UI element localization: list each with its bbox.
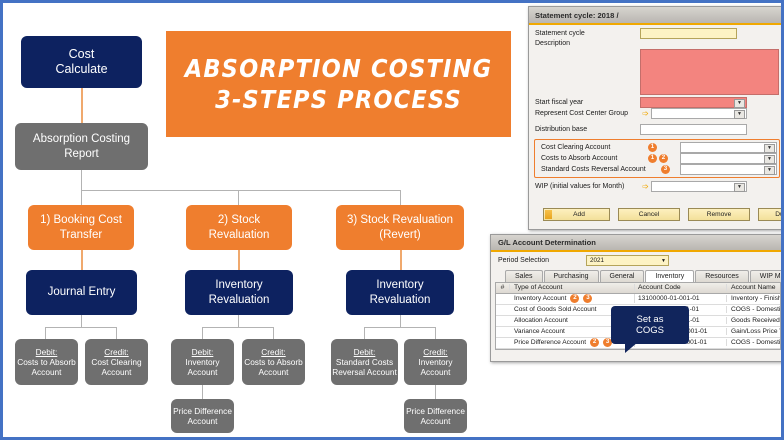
label-represent-cost-center-group: Represent Cost Center Group bbox=[535, 110, 640, 117]
node-step2-stock-revaluation[interactable]: 2) Stock Revaluation bbox=[186, 205, 292, 250]
row-type-label: Allocation Account bbox=[514, 317, 568, 324]
connector-doc2-trunk bbox=[238, 315, 239, 327]
leaf-debit-inventory-2[interactable]: Debit: Inventory Account bbox=[171, 339, 234, 385]
connector-doc3-trunk bbox=[400, 315, 401, 327]
node-inv-reval3-line2: Revaluation bbox=[370, 293, 431, 307]
node-step3-line2: (Revert) bbox=[379, 228, 421, 242]
leaf-debit-label-1: Debit: bbox=[36, 347, 58, 357]
field-start-fiscal-year[interactable]: Start fiscal year ▼ bbox=[529, 97, 784, 108]
node-inventory-revaluation-3[interactable]: Inventory Revaluation bbox=[346, 270, 454, 315]
connector-doc3-right bbox=[435, 327, 436, 339]
connector-report-trunk bbox=[81, 170, 82, 190]
tab-purchasing[interactable]: Purchasing bbox=[544, 270, 599, 282]
select-represent-cost-center-group[interactable]: ▼ bbox=[651, 108, 747, 119]
field-standard-costs-reversal-account[interactable]: Standard Costs Reversal Account 3 ▼ bbox=[535, 164, 779, 175]
leaf1-debit-line2: Account bbox=[32, 367, 62, 377]
row-type-label: Cost of Goods Sold Account bbox=[514, 306, 596, 313]
row-account-name: Gain/Loss Price Va bbox=[727, 328, 780, 335]
node-journal-entry-label: Journal Entry bbox=[48, 285, 116, 299]
row-code-value: 13100000-01-001-01 bbox=[638, 295, 700, 302]
chevron-down-icon: ▼ bbox=[734, 110, 745, 119]
node-step1-line1: 1) Booking Cost bbox=[40, 213, 122, 227]
chevron-down-icon: ▼ bbox=[764, 166, 775, 175]
connector-doc3-left bbox=[364, 327, 365, 339]
row-type-label: Price Difference Account bbox=[514, 339, 586, 346]
input-statement-cycle[interactable] bbox=[640, 28, 737, 39]
connector-doc1-bus bbox=[45, 327, 117, 328]
leaf-debit-label-2: Debit: bbox=[192, 347, 214, 357]
leaf-credit-label-1: Credit: bbox=[104, 347, 128, 357]
label-statement-cycle: Statement cycle bbox=[535, 30, 640, 37]
node-inv-reval3-line1: Inventory bbox=[376, 278, 423, 292]
leaf-credit-costs-to-absorb-2[interactable]: Credit: Costs to Absorb Account bbox=[242, 339, 305, 385]
connector-doc3-bus bbox=[364, 327, 436, 328]
field-represent-cost-center-group[interactable]: Represent Cost Center Group ➩ ▼ bbox=[529, 108, 784, 119]
node-absorption-costing-report[interactable]: Absorption Costing Report bbox=[15, 123, 148, 170]
leaf-debit-standard-costs-reversal[interactable]: Debit: Standard Costs Reversal Account bbox=[331, 339, 398, 385]
node-step1-booking-cost-transfer[interactable]: 1) Booking Cost Transfer bbox=[28, 205, 134, 250]
connector-bus-to-step3 bbox=[400, 190, 401, 205]
connector-doc2-right bbox=[273, 327, 274, 339]
distribution-accounts-group: Cost Clearing Account 1 ▼ Costs to Absor… bbox=[534, 139, 780, 178]
label-standard-costs-reversal-account: Standard Costs Reversal Account bbox=[541, 166, 659, 173]
callout-line1: Set as bbox=[636, 314, 664, 325]
badge-number: 1 bbox=[648, 143, 657, 152]
badge-number: 3 bbox=[583, 294, 592, 303]
leaf3-debit-line1: Standard Costs bbox=[336, 357, 393, 367]
add-button[interactable]: Add bbox=[543, 208, 610, 221]
node-step3-line1: 3) Stock Revaluation bbox=[347, 213, 453, 227]
connector-step2-to-doc bbox=[238, 250, 240, 270]
connector-doc1-left bbox=[45, 327, 46, 339]
select-cost-clearing-account[interactable]: ▼ bbox=[680, 142, 777, 153]
badge-number: 3 bbox=[661, 165, 670, 174]
connector-leaf2-to-pricediff bbox=[202, 385, 203, 399]
field-statement-cycle[interactable]: Statement cycle bbox=[529, 28, 784, 39]
connector-steps-bus bbox=[81, 190, 401, 191]
input-distribution-base[interactable] bbox=[640, 124, 747, 135]
leaf3-credit-line2: Account bbox=[421, 367, 451, 377]
leaf2-credit-line2: Account bbox=[259, 367, 289, 377]
callout-line2: COGS bbox=[636, 325, 664, 336]
node-step3-stock-revaluation-revert[interactable]: 3) Stock Revaluation (Revert) bbox=[336, 205, 464, 250]
slide-canvas: Cost Calculate Absorption Costing Report… bbox=[0, 0, 784, 440]
tab-inventory[interactable]: Inventory bbox=[645, 270, 694, 282]
leaf2-credit-line1: Costs to Absorb bbox=[244, 357, 303, 367]
callout-set-as-cogs: Set as COGS bbox=[611, 306, 689, 344]
leaf-debit-costs-to-absorb[interactable]: Debit: Costs to Absorb Account bbox=[15, 339, 78, 385]
period-value: 2021 bbox=[590, 257, 604, 264]
field-wip[interactable]: WIP (initial values for Month) ➩ ▼ bbox=[529, 181, 784, 192]
select-wip[interactable]: ▼ bbox=[651, 181, 747, 192]
row-account-name: COGS - Domestic bbox=[727, 306, 780, 313]
label-distribution-base: Distribution base bbox=[535, 126, 640, 133]
label-description: Description bbox=[535, 40, 640, 47]
badge-number: 2 bbox=[590, 338, 599, 347]
table-row[interactable]: Inventory Account 2 3 13100000-01-001-01… bbox=[496, 294, 780, 305]
table-header-row: # Type of Account Account Code Account N… bbox=[496, 283, 780, 294]
win1-title: Statement cycle: 2018 / bbox=[535, 11, 619, 20]
row-account-name: Inventory - Finish bbox=[727, 295, 780, 302]
row-type-label: Inventory Account bbox=[514, 295, 566, 302]
connector-step3-to-doc bbox=[400, 250, 402, 270]
leaf-credit-cost-clearing[interactable]: Credit: Cost Clearing Account bbox=[85, 339, 148, 385]
chevron-down-icon: ▼ bbox=[661, 256, 666, 265]
row-account-code: 13100000-01-001-01 bbox=[635, 295, 727, 302]
node-cost-calculate-line1: Cost bbox=[69, 47, 95, 62]
leaf3-extra-line2: Account bbox=[421, 416, 451, 426]
tab-sales[interactable]: Sales bbox=[505, 270, 543, 282]
field-cost-clearing-account[interactable]: Cost Clearing Account 1 ▼ bbox=[535, 142, 779, 153]
label-costs-to-absorb-account: Costs to Absorb Account bbox=[541, 155, 646, 162]
leaf1-credit-line1: Cost Clearing bbox=[91, 357, 141, 367]
leaf3-debit-line2: Reversal Account bbox=[332, 367, 397, 377]
connector-doc1-right bbox=[116, 327, 117, 339]
leaf2-debit-line2: Account bbox=[188, 367, 218, 377]
leaf1-debit-line1: Costs to Absorb bbox=[17, 357, 76, 367]
badge-number: 2 bbox=[659, 154, 668, 163]
badges-standard-costs-reversal: 3 bbox=[659, 165, 680, 174]
leaf3-credit-line1: Inventory bbox=[418, 357, 452, 367]
leaf-price-difference-2[interactable]: Price Difference Account bbox=[171, 399, 234, 433]
connector-doc1-trunk bbox=[81, 315, 82, 327]
tab-general[interactable]: General bbox=[600, 270, 645, 282]
node-inv-reval2-line1: Inventory bbox=[215, 278, 262, 292]
leaf2-debit-line1: Inventory bbox=[185, 357, 219, 367]
select-standard-costs-reversal-account[interactable]: ▼ bbox=[680, 164, 777, 175]
chevron-down-icon: ▼ bbox=[734, 99, 745, 108]
node-step2-line2: Revaluation bbox=[209, 228, 270, 242]
node-cost-calculate-line2: Calculate bbox=[55, 62, 107, 77]
label-cost-clearing-account: Cost Clearing Account bbox=[541, 144, 646, 151]
connector-bus-to-step1 bbox=[81, 190, 82, 205]
select-start-fiscal-year[interactable]: ▼ bbox=[640, 97, 747, 108]
win1-button-row: Add Cancel Remove Duplicate bbox=[529, 208, 784, 221]
statement-cycle-window[interactable]: Statement cycle: 2018 / Statement cycle … bbox=[528, 6, 784, 230]
field-distribution-base: Distribution base bbox=[529, 124, 784, 135]
field-description: Description bbox=[529, 39, 784, 48]
row-account-name: Goods Received N bbox=[727, 317, 780, 324]
cancel-button[interactable]: Cancel bbox=[618, 208, 680, 221]
link-arrow-icon[interactable]: ➩ bbox=[640, 110, 651, 118]
chevron-down-icon: ▼ bbox=[764, 144, 775, 153]
title-banner: Absorption Costing 3-Steps Process bbox=[166, 31, 511, 137]
leaf-debit-label-3: Debit: bbox=[354, 347, 376, 357]
select-costs-to-absorb-account[interactable]: ▼ bbox=[680, 153, 777, 164]
link-arrow-icon[interactable]: ➩ bbox=[640, 183, 651, 191]
node-inv-reval2-line2: Revaluation bbox=[209, 293, 270, 307]
win1-titlebar: Statement cycle: 2018 / bbox=[529, 7, 784, 25]
row-account-name: COGS - Domestic bbox=[727, 339, 780, 346]
label-start-fiscal-year: Start fiscal year bbox=[535, 99, 640, 106]
label-period-selection: Period Selection bbox=[498, 257, 586, 264]
chevron-down-icon: ▼ bbox=[734, 183, 745, 192]
badges-cost-clearing: 1 bbox=[646, 143, 680, 152]
input-description[interactable] bbox=[640, 49, 779, 95]
connector-step1-to-doc bbox=[81, 250, 83, 270]
node-report-line1: Absorption Costing bbox=[33, 132, 130, 146]
connector-doc2-left bbox=[202, 327, 203, 339]
row-type-of-account: Inventory Account 2 3 bbox=[510, 294, 635, 303]
node-cost-calculate[interactable]: Cost Calculate bbox=[21, 36, 142, 88]
callout-tail bbox=[625, 342, 638, 353]
chevron-down-icon: ▼ bbox=[764, 155, 775, 164]
leaf-credit-label-3: Credit: bbox=[423, 347, 447, 357]
node-step2-line1: 2) Stock bbox=[218, 213, 260, 227]
leaf-price-difference-3[interactable]: Price Difference Account bbox=[404, 399, 467, 433]
column-header-type-of-account: Type of Account bbox=[510, 284, 635, 291]
duplicate-button[interactable]: Duplicate bbox=[758, 208, 784, 221]
node-step1-line2: Transfer bbox=[60, 228, 102, 242]
row-type-label: Variance Account bbox=[514, 328, 565, 335]
badges-costs-to-absorb: 1 2 bbox=[646, 154, 680, 163]
label-wip: WIP (initial values for Month) bbox=[535, 183, 640, 190]
tab-wip[interactable]: WIP M bbox=[750, 270, 784, 282]
banner-line2: 3-Steps Process bbox=[215, 84, 462, 115]
tab-resources[interactable]: Resources bbox=[695, 270, 748, 282]
tab-bar: Sales Purchasing General Inventory Resou… bbox=[491, 267, 784, 282]
column-header-account-name: Account Name bbox=[727, 284, 780, 291]
connector-calc-to-report bbox=[81, 88, 83, 124]
field-costs-to-absorb-account[interactable]: Costs to Absorb Account 1 2 ▼ bbox=[535, 153, 779, 164]
badge-number: 1 bbox=[648, 154, 657, 163]
connector-doc2-bus bbox=[202, 327, 274, 328]
remove-button[interactable]: Remove bbox=[688, 208, 750, 221]
leaf1-credit-line2: Account bbox=[102, 367, 132, 377]
connector-leaf3-to-pricediff bbox=[435, 385, 436, 399]
select-period[interactable]: 2021 ▼ bbox=[586, 255, 669, 266]
node-report-line2: Report bbox=[64, 147, 99, 161]
period-selection-row[interactable]: Period Selection 2021 ▼ bbox=[491, 252, 784, 267]
leaf-credit-inventory-3[interactable]: Credit: Inventory Account bbox=[404, 339, 467, 385]
node-journal-entry[interactable]: Journal Entry bbox=[26, 270, 137, 315]
leaf-credit-label-2: Credit: bbox=[261, 347, 285, 357]
column-header-number: # bbox=[496, 284, 510, 291]
win2-titlebar: G/L Account Determination bbox=[491, 235, 784, 252]
win2-title: G/L Account Determination bbox=[498, 238, 596, 247]
banner-line1: Absorption Costing bbox=[185, 53, 493, 84]
node-inventory-revaluation-2[interactable]: Inventory Revaluation bbox=[185, 270, 293, 315]
badge-number: 2 bbox=[570, 294, 579, 303]
leaf3-extra-line1: Price Difference bbox=[406, 406, 465, 416]
leaf2-extra-line2: Account bbox=[188, 416, 218, 426]
leaf2-extra-line1: Price Difference bbox=[173, 406, 232, 416]
connector-bus-to-step2 bbox=[238, 190, 239, 205]
column-header-account-code: Account Code bbox=[635, 284, 727, 291]
